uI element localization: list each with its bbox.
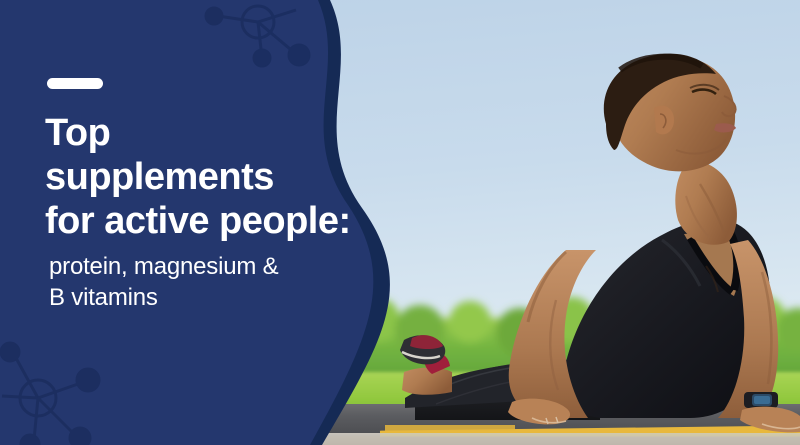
page-title: Top supplements for active people: bbox=[45, 111, 415, 243]
hero-text-block: Top supplements for active people: prote… bbox=[45, 78, 415, 313]
decorative-dash bbox=[47, 78, 103, 89]
article-hero-banner: Top supplements for active people: prote… bbox=[0, 0, 800, 445]
page-subtitle: protein, magnesium & B vitamins bbox=[49, 251, 415, 313]
sport-watch bbox=[744, 392, 778, 408]
